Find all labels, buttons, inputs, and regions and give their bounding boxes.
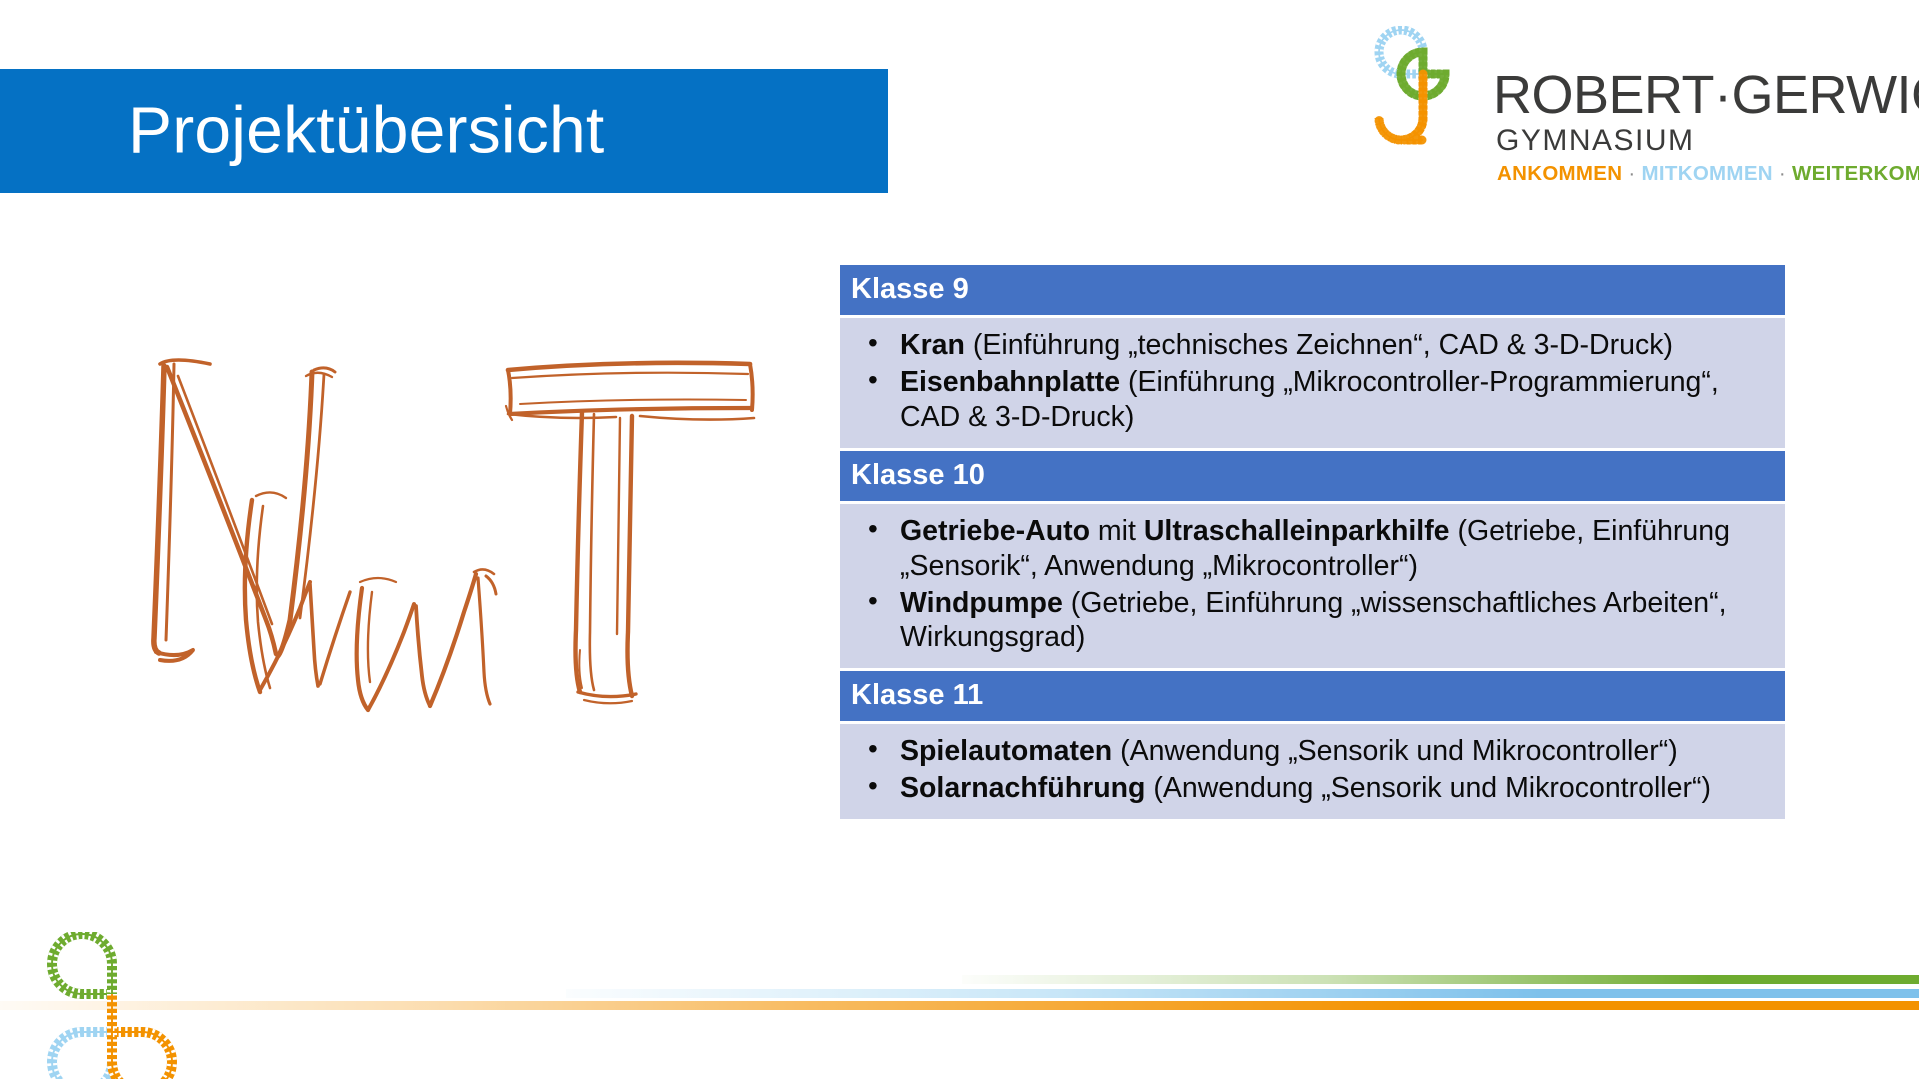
list-item-bold: Kran — [900, 329, 965, 361]
list-item-bold: Solarnachführung — [900, 772, 1145, 804]
slide-title-banner: Projektübersicht — [0, 69, 888, 193]
bullet-list: Spielautomaten (Anwendung „Sensorik und … — [854, 734, 1771, 806]
school-logo-clover-icon — [1365, 26, 1497, 156]
table-section-body: Spielautomaten (Anwendung „Sensorik und … — [840, 721, 1785, 819]
list-item-text: (Anwendung „Sensorik und Mikrocontroller… — [1145, 772, 1711, 804]
list-item: Solarnachführung (Anwendung „Sensorik un… — [854, 771, 1771, 806]
list-item-bold: Windpumpe — [900, 587, 1063, 619]
list-item-text: (Einführung „technisches Zeichnen“, CAD … — [965, 329, 1673, 361]
footer-decorative-stripes — [0, 975, 1919, 1025]
list-item: Kran (Einführung „technisches Zeichnen“,… — [854, 328, 1771, 363]
list-item-bold: Getriebe-Auto — [900, 515, 1090, 547]
tagline-separator-1: · — [1622, 162, 1641, 185]
list-item: Eisenbahnplatte (Einführung „Mikrocontro… — [854, 365, 1771, 435]
tagline-part-1: ANKOMMEN — [1497, 162, 1622, 185]
bullet-list: Getriebe-Auto mit Ultraschalleinparkhilf… — [854, 514, 1771, 655]
bullet-list: Kran (Einführung „technisches Zeichnen“,… — [854, 328, 1771, 434]
project-overview-table: Klasse 9 Kran (Einführung „technisches Z… — [840, 265, 1785, 819]
tagline-part-3: WEITERKOMMEN — [1792, 162, 1919, 185]
list-item: Spielautomaten (Anwendung „Sensorik und … — [854, 734, 1771, 769]
table-section-body: Getriebe-Auto mit Ultraschalleinparkhilf… — [840, 501, 1785, 668]
school-tagline: ANKOMMEN · MITKOMMEN · WEITERKOMMEN — [1497, 164, 1919, 185]
list-item-text-mid: mit — [1090, 515, 1144, 547]
list-item-bold-2: Ultraschalleinparkhilfe — [1144, 515, 1450, 547]
table-section-header: Klasse 11 — [840, 671, 1785, 721]
table-section-header: Klasse 10 — [840, 451, 1785, 501]
tagline-part-2: MITKOMMEN — [1642, 162, 1773, 185]
table-section-body: Kran (Einführung „technisches Zeichnen“,… — [840, 315, 1785, 447]
list-item: Getriebe-Auto mit Ultraschalleinparkhilf… — [854, 514, 1771, 584]
list-item-bold: Eisenbahnplatte — [900, 366, 1120, 398]
list-item-bold: Spielautomaten — [900, 735, 1112, 767]
stripe-orange — [0, 1001, 1919, 1010]
page-title: Projektübersicht — [128, 97, 604, 163]
tagline-separator-2: · — [1773, 162, 1792, 185]
list-item-text: (Anwendung „Sensorik und Mikrocontroller… — [1112, 735, 1678, 767]
school-logo: ROBERT·GERWIG GYMNASIUM ANKOMMEN · MITKO… — [1365, 22, 1905, 172]
school-type: GYMNASIUM — [1496, 126, 1695, 156]
school-name: ROBERT·GERWIG — [1493, 68, 1919, 122]
nwt-sketch-image — [60, 320, 780, 750]
table-section-header: Klasse 9 — [840, 265, 1785, 315]
list-item: Windpumpe (Getriebe, Einführung „wissens… — [854, 586, 1771, 656]
stripe-green — [962, 975, 1919, 984]
stripe-blue — [566, 989, 1919, 998]
